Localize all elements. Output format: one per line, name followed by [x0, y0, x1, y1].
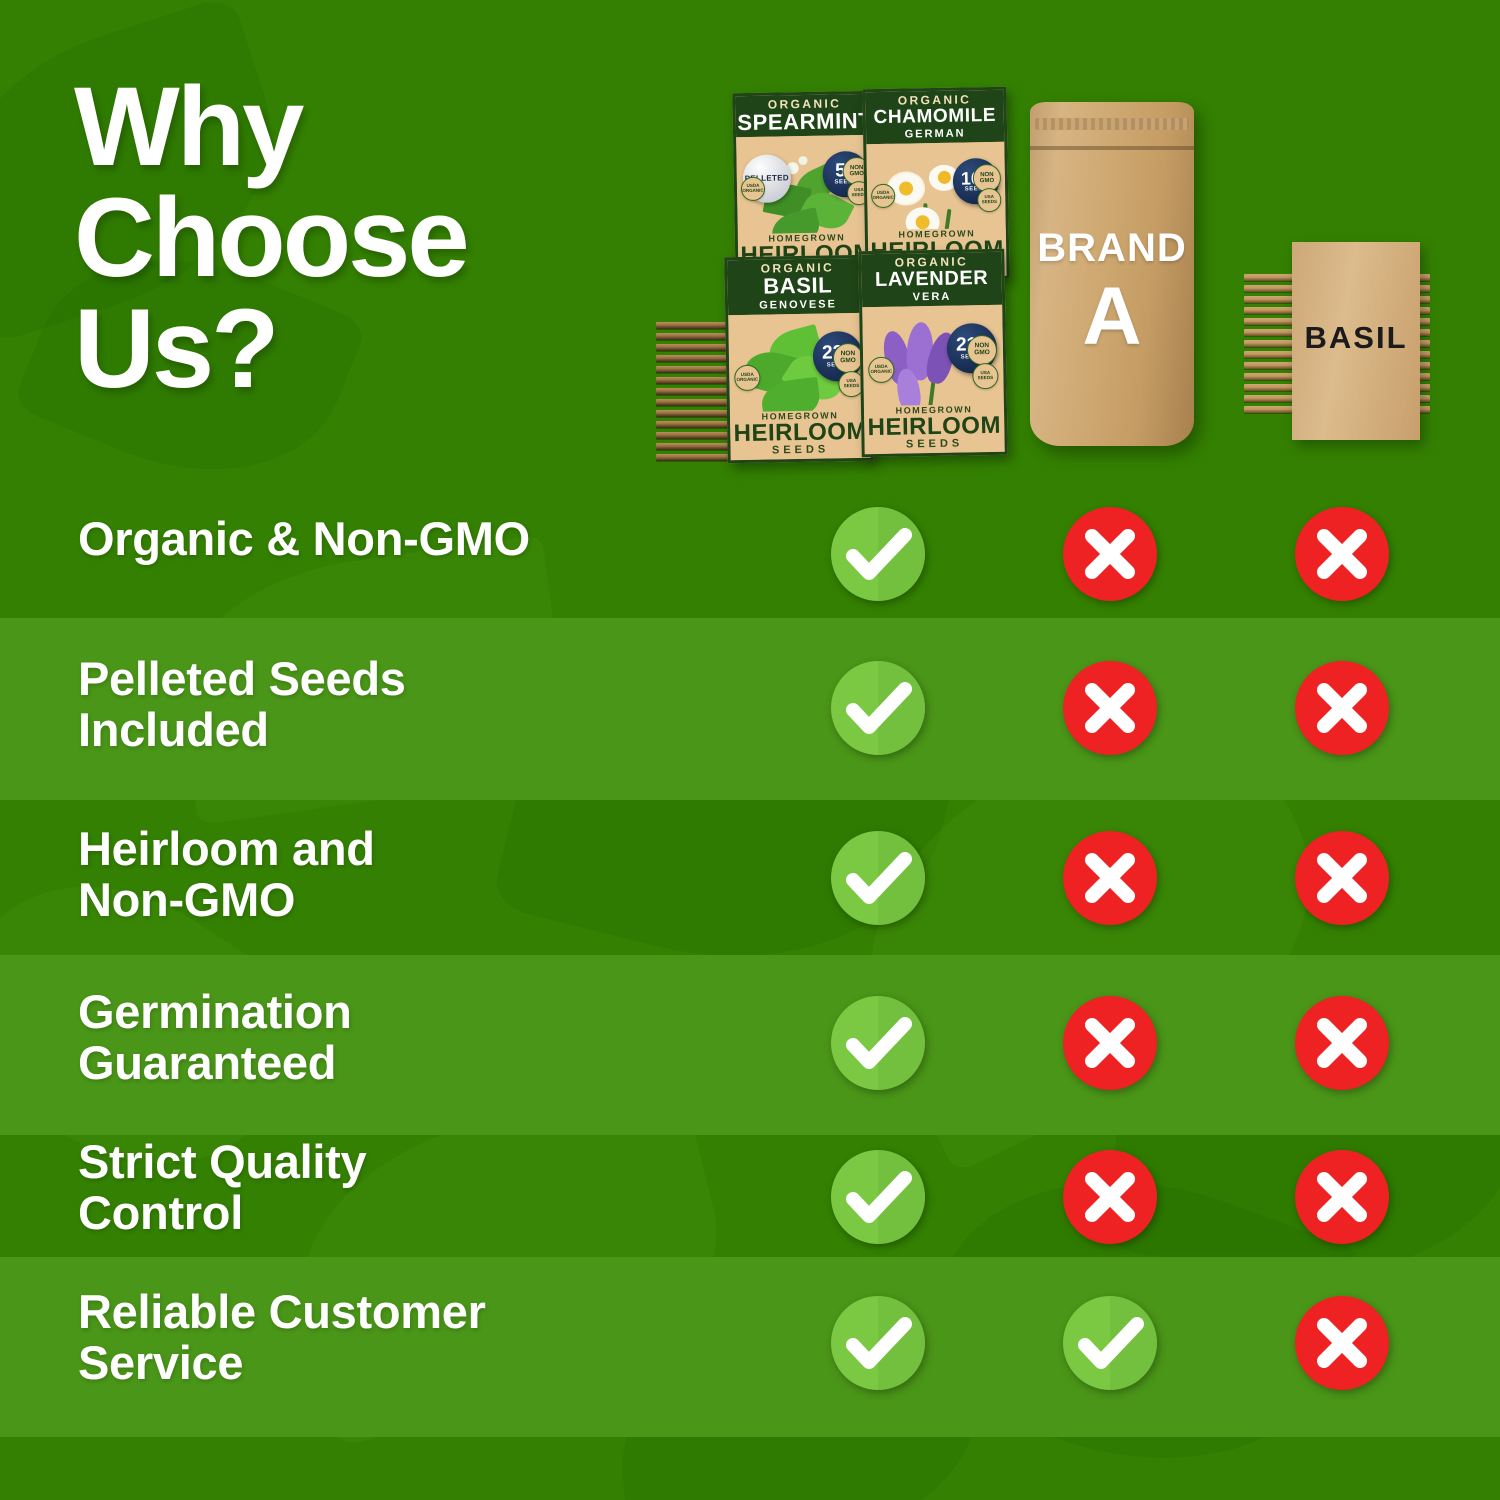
feature-label: Pelleted Seeds Included	[78, 654, 406, 756]
usda-organic-seal: USDA ORGANIC	[868, 357, 894, 383]
packet-heirloom: HEIRLOOM	[730, 420, 870, 445]
mark-us	[828, 658, 928, 758]
usa-seeds-seal: USA SEEDS	[972, 363, 998, 389]
mark-competitor-packet	[1292, 658, 1392, 758]
mark-us	[828, 1147, 928, 1247]
feature-label: Heirloom and Non-GMO	[78, 824, 375, 926]
mark-brand-a	[1060, 993, 1160, 1093]
seed-packet-basil: ORGANIC BASIL GENOVESE 230 SEEDS NON GMO…	[724, 255, 874, 464]
mark-us	[828, 993, 928, 1093]
mark-brand-a	[1060, 1147, 1160, 1247]
infographic-root: Why Choose Us? ORGANIC SPEARMINT	[0, 0, 1500, 1500]
comparison-row: Reliable Customer Service	[0, 1257, 1500, 1437]
feature-label: Organic & Non-GMO	[78, 514, 530, 565]
packet-name: SPEARMINT	[736, 110, 874, 135]
seed-packet-lavender: ORGANIC LAVENDER VERA 210 SEEDS NON GMO …	[858, 249, 1008, 458]
mark-us	[828, 828, 928, 928]
usda-organic-seal: USDA ORGANIC	[741, 176, 765, 200]
packet-heirloom: HEIRLOOM	[864, 414, 1004, 439]
mark-competitor-packet	[1292, 1147, 1392, 1247]
comparison-row: Pelleted Seeds Included	[0, 618, 1500, 800]
comparison-row: Strict Quality Control	[0, 1135, 1500, 1257]
comparison-row: Organic & Non-GMO	[0, 490, 1500, 618]
mark-brand-a	[1060, 1293, 1160, 1393]
mark-competitor-packet	[1292, 1293, 1392, 1393]
competitor-basil-packet: BASIL	[1292, 242, 1420, 440]
packet-name: BASIL	[728, 274, 868, 299]
mark-brand-a	[1060, 504, 1160, 604]
usda-organic-seal: USDA ORGANIC	[871, 184, 895, 208]
feature-label: Reliable Customer Service	[78, 1287, 486, 1389]
page-title: Why Choose Us?	[74, 72, 694, 405]
mark-competitor-packet	[1292, 504, 1392, 604]
feature-label: Strict Quality Control	[78, 1137, 366, 1239]
feature-label: Germination Guaranteed	[78, 987, 352, 1089]
comparison-row: Heirloom and Non-GMO	[0, 800, 1500, 955]
packet-name: CHAMOMILE	[866, 106, 1004, 128]
mark-competitor-packet	[1292, 993, 1392, 1093]
packet-variety: GERMAN	[866, 125, 1004, 142]
mark-us	[828, 1293, 928, 1393]
pouch-brand-label: BRAND	[1030, 226, 1194, 271]
pouch-brand-letter: A	[1030, 270, 1194, 364]
usa-seeds-seal: USA SEEDS	[977, 188, 1001, 212]
mark-us	[828, 504, 928, 604]
mark-competitor-packet	[1292, 828, 1392, 928]
comparison-row: Germination Guaranteed	[0, 955, 1500, 1135]
mark-brand-a	[1060, 658, 1160, 758]
hero-product-group: ORGANIC SPEARMINT PELLETED 55 SEEDS NON …	[648, 78, 1458, 468]
packet-name: LAVENDER	[862, 268, 1002, 291]
packet-variety: GENOVESE	[728, 296, 868, 313]
packet-variety: VERA	[862, 288, 1002, 305]
non-gmo-seal: NON GMO	[967, 335, 998, 366]
competitor-pouch-brand-a: BRAND A	[1030, 102, 1194, 446]
competitor-basil-label: BASIL	[1292, 320, 1420, 356]
mark-brand-a	[1060, 828, 1160, 928]
